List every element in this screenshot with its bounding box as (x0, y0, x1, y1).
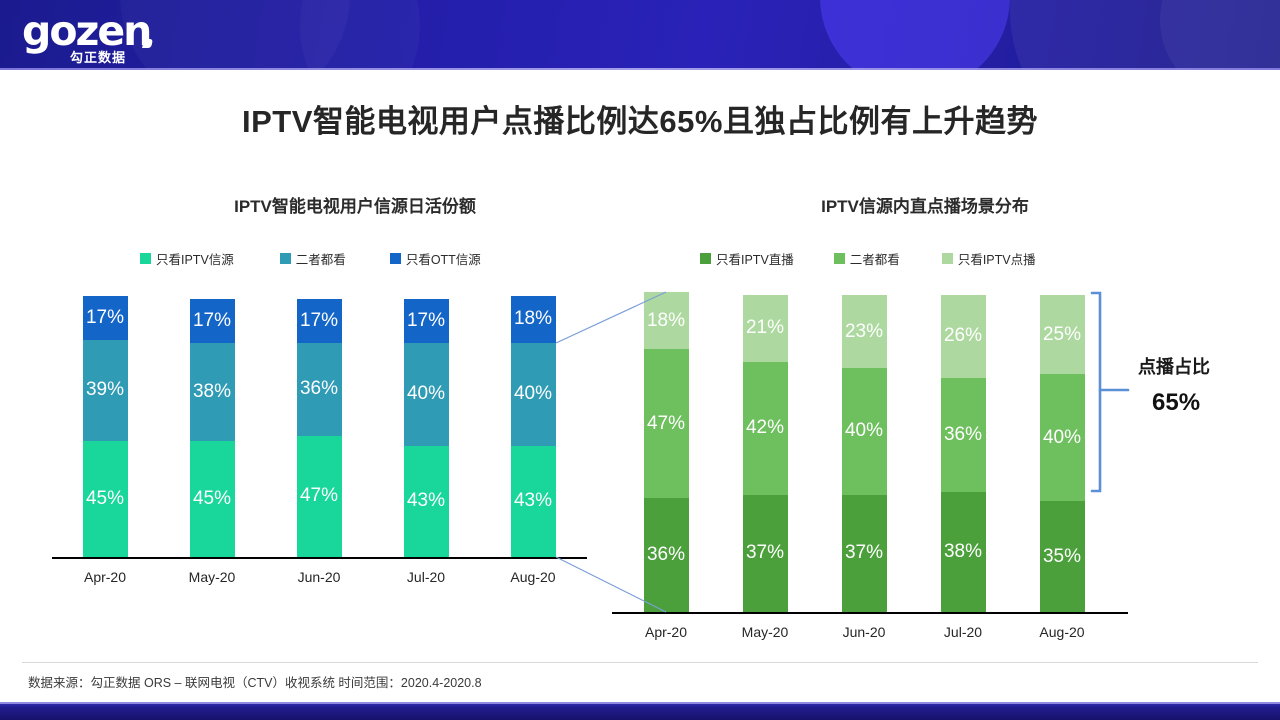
left-bar-value-label: 40% (514, 383, 552, 405)
left-bar-value-label: 45% (86, 488, 124, 510)
left-bar-segment[interactable]: 38% (190, 343, 235, 441)
header-underline (0, 68, 1280, 70)
legend-label: 只看IPTV点播 (958, 249, 1036, 268)
right-chart-title: IPTV信源内直点播场景分布 (690, 192, 1160, 217)
left-bar-segment[interactable]: 17% (404, 299, 449, 343)
left-bar-value-label: 18% (514, 308, 552, 330)
legend-swatch-icon (140, 253, 151, 264)
left-bar-value-label: 43% (407, 490, 445, 512)
left-bar-segment[interactable]: 40% (404, 343, 449, 446)
left-bar-value-label: 40% (407, 383, 445, 405)
header-decor-circle (820, 0, 1010, 70)
right-x-tick-label: Jun-20 (814, 624, 914, 640)
legend-label: 只看OTT信源 (406, 249, 481, 268)
legend-swatch-icon (834, 253, 845, 264)
right-bar-value-label: 21% (746, 317, 784, 339)
left-bar-value-label: 45% (193, 488, 231, 510)
left-x-axis-line (52, 557, 587, 559)
right-x-tick-label: Jul-20 (913, 624, 1013, 640)
legend-label: 只看IPTV直播 (716, 249, 794, 268)
right-bar-value-label: 35% (1043, 546, 1081, 568)
right-bar-segment[interactable]: 18% (644, 292, 689, 349)
left-bar-value-label: 43% (514, 490, 552, 512)
left-bar-segment[interactable]: 17% (190, 299, 235, 343)
header-decor-circle (300, 0, 420, 70)
left-bar-column[interactable]: 45%38%17% (190, 296, 235, 557)
left-bar-segment[interactable]: 45% (190, 441, 235, 557)
right-legend-item-0[interactable]: 只看IPTV直播 (700, 249, 794, 268)
left-chart-title: IPTV智能电视用户信源日活份额 (120, 192, 590, 217)
left-bar-segment[interactable]: 40% (511, 343, 556, 446)
gozen-logo: gozen 勾正数据 (14, 9, 184, 65)
left-chart-legend: 只看IPTV信源二者都看只看OTT信源 (140, 249, 580, 268)
right-x-tick-label: May-20 (715, 624, 815, 640)
right-bar-segment[interactable]: 25% (1040, 295, 1085, 374)
legend-swatch-icon (280, 253, 291, 264)
left-bar-segment[interactable]: 43% (511, 446, 556, 557)
right-bar-value-label: 42% (746, 417, 784, 439)
legend-swatch-icon (700, 253, 711, 264)
right-bar-value-label: 40% (1043, 427, 1081, 449)
right-bar-column[interactable]: 37%42%21% (743, 292, 788, 612)
right-bar-segment[interactable]: 21% (743, 295, 788, 362)
right-legend-item-1[interactable]: 二者都看 (834, 249, 900, 268)
source-note: 数据来源：勾正数据 ORS – 联网电视（CTV）收视系统 时间范围：2020.… (28, 672, 482, 691)
vod-share-callout-label: 点播占比 (1138, 353, 1210, 379)
right-bar-segment[interactable]: 36% (644, 498, 689, 612)
right-bar-value-label: 36% (944, 424, 982, 446)
right-bar-value-label: 38% (944, 541, 982, 563)
right-bar-column[interactable]: 37%40%23% (842, 292, 887, 612)
page-title: IPTV智能电视用户点播比例达65%且独占比例有上升趋势 (0, 96, 1280, 141)
footer-bar (0, 702, 1280, 720)
left-bar-segment[interactable]: 39% (83, 340, 128, 441)
left-bar-segment[interactable]: 36% (297, 343, 342, 436)
right-bar-value-label: 25% (1043, 324, 1081, 346)
left-x-tick-label: Jun-20 (269, 569, 369, 585)
legend-label: 二者都看 (296, 249, 346, 268)
legend-swatch-icon (942, 253, 953, 264)
right-bar-value-label: 18% (647, 310, 685, 332)
left-bar-segment[interactable]: 18% (511, 296, 556, 343)
right-bar-segment[interactable]: 40% (842, 368, 887, 495)
left-bar-segment[interactable]: 17% (297, 299, 342, 343)
left-bar-value-label: 38% (193, 381, 231, 403)
left-bar-column[interactable]: 45%39%17% (83, 296, 128, 557)
left-legend-item-0[interactable]: 只看IPTV信源 (140, 249, 234, 268)
right-bar-value-label: 47% (647, 413, 685, 435)
right-bar-value-label: 26% (944, 325, 982, 347)
right-bar-segment[interactable]: 40% (1040, 374, 1085, 501)
left-bar-value-label: 17% (193, 310, 231, 332)
left-x-tick-label: Aug-20 (483, 569, 583, 585)
right-bar-segment[interactable]: 38% (941, 492, 986, 612)
logo-accent-dot-icon (142, 39, 153, 48)
right-bar-segment[interactable]: 47% (644, 349, 689, 498)
right-bar-value-label: 37% (845, 542, 883, 564)
right-bar-column[interactable]: 38%36%26% (941, 292, 986, 612)
right-chart-legend: 只看IPTV直播二者都看只看IPTV点播 (700, 249, 1140, 268)
right-bar-value-label: 37% (746, 542, 784, 564)
left-legend-item-1[interactable]: 二者都看 (280, 249, 346, 268)
left-bar-column[interactable]: 43%40%17% (404, 296, 449, 557)
left-x-tick-label: May-20 (162, 569, 262, 585)
logo-subtitle: 勾正数据 (70, 47, 126, 66)
vod-share-callout-value: 65% (1152, 389, 1200, 417)
right-bar-column[interactable]: 36%47%18% (644, 292, 689, 612)
left-bar-value-label: 36% (300, 378, 338, 400)
left-bar-value-label: 17% (407, 310, 445, 332)
left-bar-segment[interactable]: 47% (297, 436, 342, 557)
legend-label: 只看IPTV信源 (156, 249, 234, 268)
right-x-tick-label: Apr-20 (616, 624, 716, 640)
right-bar-value-label: 23% (845, 321, 883, 343)
header-decor-circle (1160, 0, 1280, 70)
right-bar-segment[interactable]: 23% (842, 295, 887, 368)
right-bar-segment[interactable]: 37% (842, 495, 887, 612)
left-bar-value-label: 17% (86, 307, 124, 329)
left-legend-item-2[interactable]: 只看OTT信源 (390, 249, 481, 268)
right-bar-segment[interactable]: 37% (743, 495, 788, 612)
legend-label: 二者都看 (850, 249, 900, 268)
left-bar-segment[interactable]: 45% (83, 441, 128, 557)
left-x-tick-label: Jul-20 (376, 569, 476, 585)
right-bar-segment[interactable]: 36% (941, 378, 986, 492)
right-stacked-bar-chart: 36%47%18%Apr-2037%42%21%May-2037%40%23%J… (612, 292, 1128, 652)
brand-header: gozen 勾正数据 (0, 0, 1280, 70)
right-bar-segment[interactable]: 42% (743, 362, 788, 495)
right-bar-column[interactable]: 35%40%25% (1040, 292, 1085, 612)
left-x-tick-label: Apr-20 (55, 569, 155, 585)
left-stacked-bar-chart: 45%39%17%Apr-2045%38%17%May-2047%36%17%J… (52, 296, 587, 597)
right-x-axis-line (612, 612, 1128, 614)
left-bar-column[interactable]: 43%40%18% (511, 296, 556, 557)
right-bar-segment[interactable]: 26% (941, 295, 986, 377)
right-bar-segment[interactable]: 35% (1040, 501, 1085, 612)
right-bar-value-label: 36% (647, 544, 685, 566)
right-x-tick-label: Aug-20 (1012, 624, 1112, 640)
slide-root: gozen 勾正数据 IPTV智能电视用户点播比例达65%且独占比例有上升趋势 … (0, 0, 1280, 720)
left-bar-value-label: 17% (300, 310, 338, 332)
right-legend-item-2[interactable]: 只看IPTV点播 (942, 249, 1036, 268)
right-bar-value-label: 40% (845, 420, 883, 442)
left-bar-value-label: 39% (86, 379, 124, 401)
left-bar-value-label: 47% (300, 485, 338, 507)
left-bar-segment[interactable]: 17% (83, 296, 128, 340)
source-divider (22, 662, 1258, 663)
legend-swatch-icon (390, 253, 401, 264)
left-bar-column[interactable]: 47%36%17% (297, 296, 342, 557)
left-bar-segment[interactable]: 43% (404, 446, 449, 557)
